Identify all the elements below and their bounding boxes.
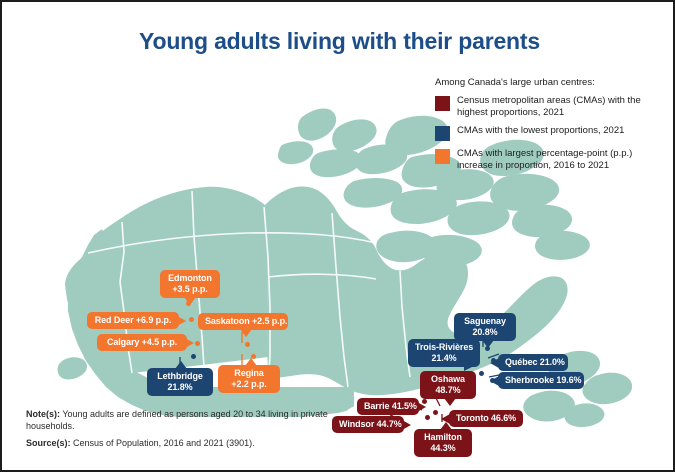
callout-hamilton[interactable]: Hamilton 44.3% xyxy=(414,429,472,457)
callout-tail xyxy=(444,398,456,406)
callout-sherbrooke-line1: Sherbrooke 19.6% xyxy=(505,375,581,385)
dot-red-deer xyxy=(189,317,194,322)
callout-quebec-line1: Québec 21.0% xyxy=(505,357,565,367)
callout-tail xyxy=(490,376,499,386)
legend-item-lowest: CMAs with the lowest proportions, 2021 xyxy=(435,125,670,141)
callout-regina[interactable]: Regina +2.2 p.p. xyxy=(218,365,280,393)
callout-toronto[interactable]: Toronto 46.6% xyxy=(449,410,523,427)
callout-barrie[interactable]: Barrie 41.5% xyxy=(357,398,419,415)
callout-tail xyxy=(482,340,494,348)
callout-lethbridge-line1: Lethbridge xyxy=(157,371,203,381)
callout-tail xyxy=(184,297,196,305)
footer-notes-text: Young adults are defined as persons aged… xyxy=(26,409,328,432)
callout-barrie-line1: Barrie 41.5% xyxy=(364,401,417,411)
callout-oshawa-line1: Oshawa xyxy=(431,374,465,384)
dot-lethbridge xyxy=(191,354,196,359)
callout-tail xyxy=(175,361,187,369)
callout-hamilton-line2: 44.3% xyxy=(421,443,465,454)
callout-saskatoon-line1: Saskatoon +2.5 p.p. xyxy=(205,316,287,326)
callout-sherbrooke[interactable]: Sherbrooke 19.6% xyxy=(498,372,584,389)
legend-label-lowest: CMAs with the lowest proportions, 2021 xyxy=(457,125,624,137)
footer-source-text: Census of Population, 2016 and 2021 (390… xyxy=(71,438,255,448)
callout-saskatoon[interactable]: Saskatoon +2.5 p.p. xyxy=(198,313,288,330)
callout-red-deer-line1: Red Deer +6.9 p.p. xyxy=(95,315,171,325)
callout-regina-line1: Regina xyxy=(234,368,263,378)
callout-trois-rivieres[interactable]: Trois-Rivières 21.4% xyxy=(408,339,480,367)
callout-red-deer[interactable]: Red Deer +6.9 p.p. xyxy=(87,312,179,329)
callout-quebec[interactable]: Québec 21.0% xyxy=(498,354,568,371)
dot-hamilton xyxy=(425,415,430,420)
callout-lethbridge[interactable]: Lethbridge 21.8% xyxy=(147,368,213,396)
callout-tail xyxy=(185,338,194,348)
callout-edmonton[interactable]: Edmonton +3.5 p.p. xyxy=(160,270,220,298)
callout-oshawa[interactable]: Oshawa 48.7% xyxy=(420,371,476,399)
callout-calgary[interactable]: Calgary +4.5 p.p. xyxy=(97,334,187,351)
dot-toronto xyxy=(433,410,438,415)
callout-tail xyxy=(490,358,499,368)
dot-saskatoon xyxy=(245,342,250,347)
callout-oshawa-line2: 48.7% xyxy=(427,385,469,396)
dot-calgary xyxy=(195,341,200,346)
callout-tail xyxy=(245,358,257,366)
dot-trois-rivieres xyxy=(479,371,484,376)
legend-item-increase: CMAs with largest percentage-point (p.p.… xyxy=(435,148,670,171)
legend-label-increase: CMAs with largest percentage-point (p.p.… xyxy=(457,148,670,171)
callout-saguenay-line1: Saguenay xyxy=(464,316,506,326)
legend: Among Canada's large urban centres: Cens… xyxy=(435,77,670,178)
page-title: Young adults living with their parents xyxy=(2,28,675,55)
infographic-page: Young adults living with their parents xyxy=(0,0,675,472)
callout-tail xyxy=(417,402,426,412)
legend-swatch-increase xyxy=(435,149,450,164)
footer-source-label: Source(s): xyxy=(26,438,71,448)
footer-notes: Note(s): Young adults are defined as per… xyxy=(26,408,356,454)
callout-saguenay-line2: 20.8% xyxy=(461,327,509,338)
callout-toronto-line1: Toronto 46.6% xyxy=(456,413,516,423)
legend-title: Among Canada's large urban centres: xyxy=(435,77,670,88)
callout-tail xyxy=(440,422,452,430)
callout-tail xyxy=(177,316,186,326)
callout-saguenay[interactable]: Saguenay 20.8% xyxy=(454,313,516,341)
callout-edmonton-line2: +3.5 p.p. xyxy=(167,284,213,295)
callout-regina-line2: +2.2 p.p. xyxy=(225,379,273,390)
callout-tail xyxy=(240,329,252,337)
legend-item-highest: Census metropolitan areas (CMAs) with th… xyxy=(435,95,670,118)
legend-swatch-highest xyxy=(435,96,450,111)
legend-swatch-lowest xyxy=(435,126,450,141)
callout-lethbridge-line2: 21.8% xyxy=(154,382,206,393)
callout-tail xyxy=(402,420,411,430)
callout-edmonton-line1: Edmonton xyxy=(168,273,212,283)
legend-label-highest: Census metropolitan areas (CMAs) with th… xyxy=(457,95,670,118)
footer-notes-label: Note(s): xyxy=(26,409,60,419)
callout-tail xyxy=(464,361,474,371)
callout-calgary-line1: Calgary +4.5 p.p. xyxy=(107,337,177,347)
callout-trois-rivieres-line1: Trois-Rivières xyxy=(415,342,473,352)
callout-hamilton-line1: Hamilton xyxy=(424,432,462,442)
footer-source-line: Source(s): Census of Population, 2016 an… xyxy=(26,437,356,450)
footer-note-line: Note(s): Young adults are defined as per… xyxy=(26,408,356,433)
